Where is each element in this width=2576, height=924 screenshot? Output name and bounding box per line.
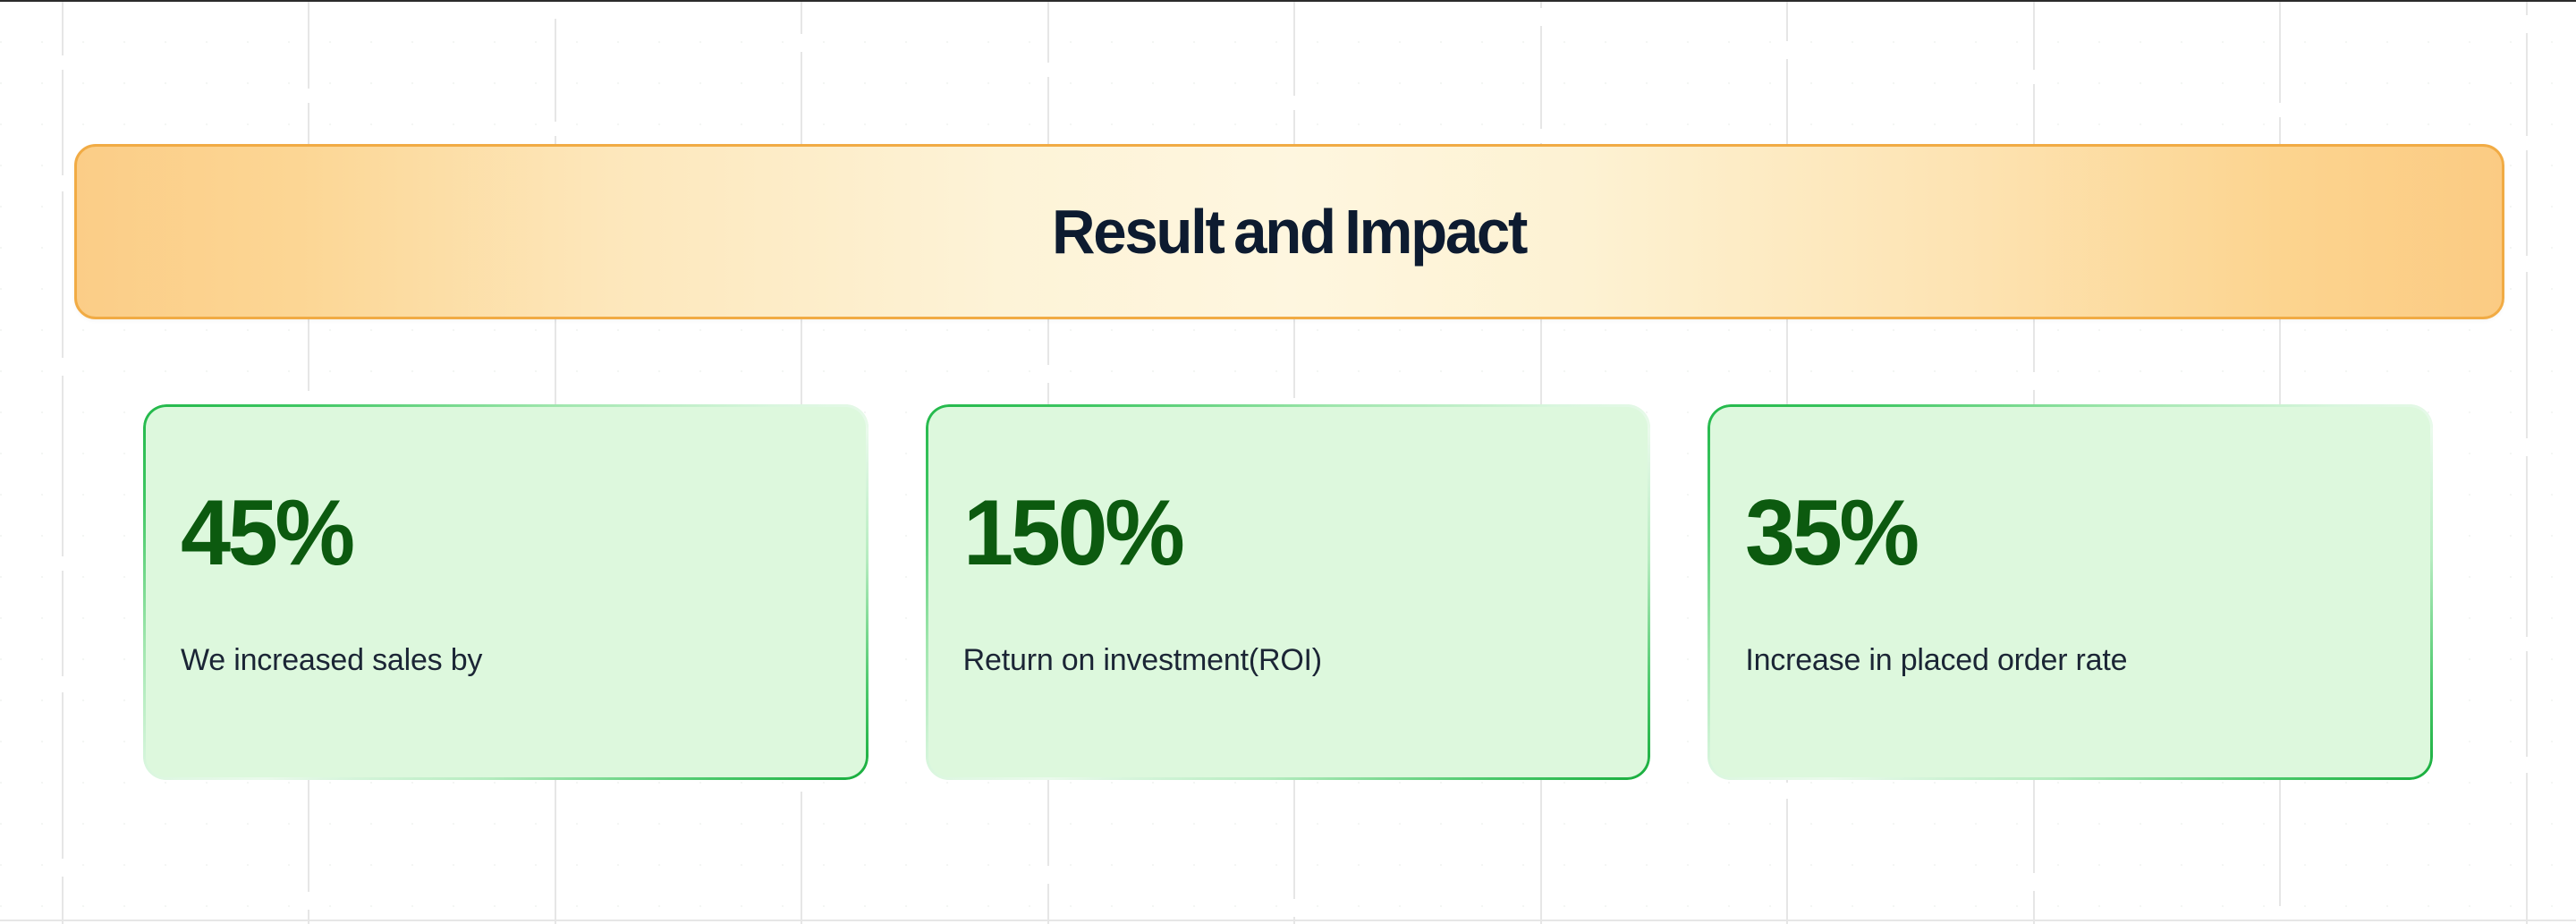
stat-caption: We increased sales by <box>181 642 869 679</box>
stat-caption: Return on investment(ROI) <box>963 642 1651 679</box>
grid-line <box>62 0 64 924</box>
page-bottom-rule <box>0 920 2576 921</box>
banner-title: Result and Impact <box>1052 200 1526 263</box>
stat-card: 45% We increased sales by <box>143 404 869 780</box>
stat-caption: Increase in placed order rate <box>1745 642 2433 679</box>
stat-card: 35% Increase in placed order rate <box>1707 404 2433 780</box>
page-top-rule <box>0 0 2576 2</box>
stat-value: 45% <box>181 487 848 580</box>
stat-value: 150% <box>963 487 1631 580</box>
grid-line <box>2526 0 2528 924</box>
stat-card: 150% Return on investment(ROI) <box>926 404 1651 780</box>
stats-card-row: 45% We increased sales by 150% Return on… <box>143 404 2433 780</box>
result-and-impact-banner: Result and Impact <box>74 144 2504 319</box>
stat-value: 35% <box>1745 487 2412 580</box>
